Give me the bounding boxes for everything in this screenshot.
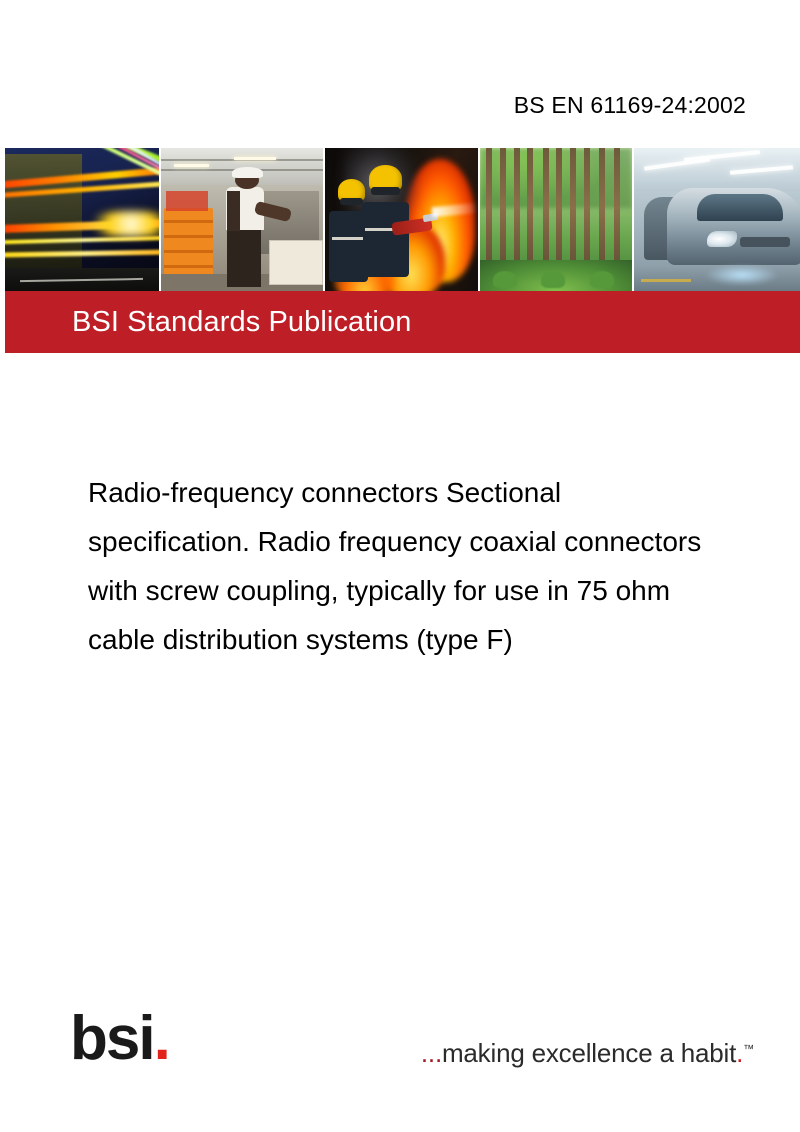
bsi-logo-dot: . [154,1004,169,1073]
firefighter-visor [340,198,363,205]
shrub [541,271,565,288]
document-title: Radio-frequency connectors Sectional spe… [88,468,708,664]
bsi-tagline: ...making excellence a habit.™ [421,1038,754,1069]
bsi-standards-publication-banner: BSI Standards Publication [5,291,800,353]
photo-panel-night-traffic-light-trails [5,148,161,291]
bsi-logo: bsi. [70,1008,169,1070]
standard-number: BS EN 61169-24:2002 [514,92,746,119]
reflective-stripe [332,237,363,240]
photo-panel-car-assembly-line [634,148,800,291]
underbody-light-glow [707,265,777,285]
tagline-ellipsis: ... [421,1038,442,1068]
photo-panel-firefighters [325,148,481,291]
ceiling-lamp [234,157,276,160]
car-grille [740,237,790,247]
worker-apron [227,191,240,231]
ceiling-lamp [174,164,210,167]
firefighter-visor [371,187,400,196]
car-headlight [707,231,737,247]
photo-panel-warehouse-worker [161,148,325,291]
tagline-text: making excellence a habit [442,1038,736,1068]
shrub [590,271,614,288]
trademark-icon: ™ [743,1043,754,1055]
ceiling-beam [161,159,323,161]
shrub [493,271,517,288]
car-windscreen [697,194,783,221]
floor-marking [641,279,691,282]
worker-cap [232,167,263,178]
crate [166,191,208,211]
worker-trousers [227,227,261,287]
banner-label: BSI Standards Publication [72,306,411,339]
cover-photo-strip [5,148,800,291]
photo-panel-forest [480,148,634,291]
bsi-logo-text: bsi [70,1004,154,1073]
cardboard-box [269,240,323,285]
firefighter-body [362,202,410,276]
